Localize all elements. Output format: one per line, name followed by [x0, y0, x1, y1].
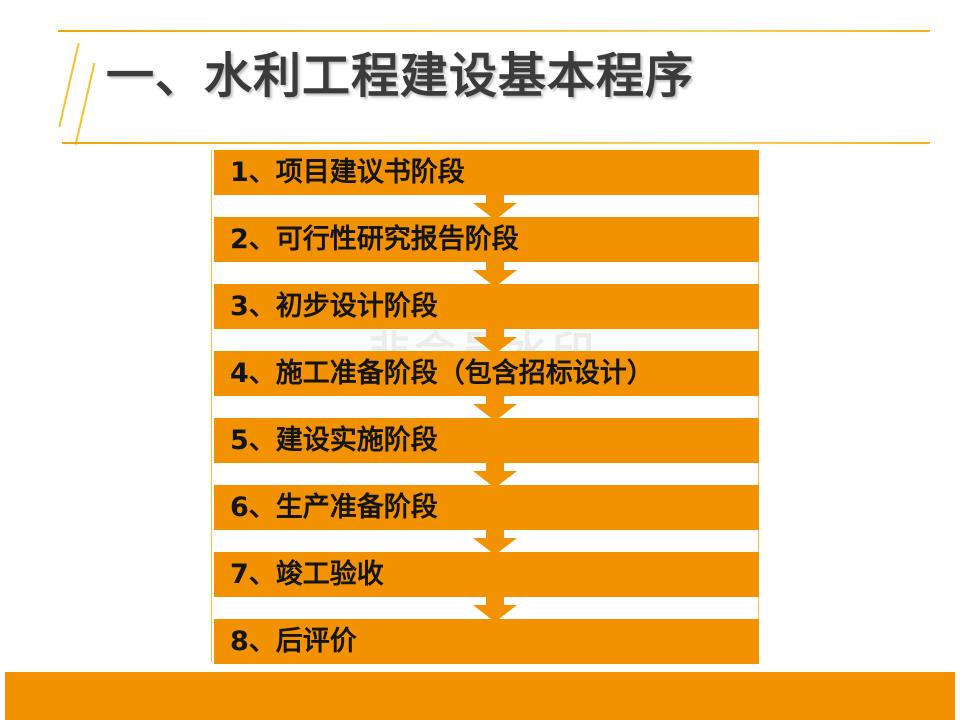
- arrow-down-icon: [473, 393, 517, 421]
- flow-step-label: 6、生产准备阶段: [230, 494, 438, 521]
- flow-step-8[interactable]: 8、后评价: [214, 619, 759, 664]
- arrow-down-icon: [473, 326, 517, 354]
- flow-step-label: 1、项目建议书阶段: [230, 159, 465, 186]
- decor-slash-icon-1: [58, 43, 79, 127]
- arrow-down-icon: [473, 259, 517, 287]
- flow-step-label: 3、初步设计阶段: [230, 293, 438, 320]
- flow-step-7[interactable]: 7、竣工验收: [214, 552, 759, 597]
- flow-guide-left: [211, 150, 212, 662]
- flow-step-5[interactable]: 5、建设实施阶段: [214, 418, 759, 463]
- flow-step-4[interactable]: 4、施工准备阶段（包含招标设计）: [214, 351, 759, 396]
- header-rule-bottom: [62, 142, 930, 144]
- process-flow-list: 1、项目建议书阶段2、可行性研究报告阶段3、初步设计阶段4、施工准备阶段（包含招…: [211, 150, 759, 662]
- page-title: 一、水利工程建设基本程序: [106, 53, 694, 101]
- slide-canvas: 一、水利工程建设基本程序 非会员水印 1、项目建议书阶段2、可行性研究报告阶段3…: [0, 0, 960, 720]
- header-rule-top: [58, 30, 930, 32]
- flow-step-6[interactable]: 6、生产准备阶段: [214, 485, 759, 530]
- flow-step-label: 2、可行性研究报告阶段: [230, 226, 519, 253]
- flow-step-label: 7、竣工验收: [230, 561, 384, 588]
- arrow-down-icon: [473, 460, 517, 488]
- arrow-down-icon: [473, 192, 517, 220]
- flow-step-2[interactable]: 2、可行性研究报告阶段: [214, 217, 759, 262]
- arrow-down-icon: [473, 527, 517, 555]
- flow-step-label: 8、后评价: [230, 628, 357, 655]
- arrow-down-icon: [473, 594, 517, 622]
- flow-step-1[interactable]: 1、项目建议书阶段: [214, 150, 759, 195]
- flow-step-3[interactable]: 3、初步设计阶段: [214, 284, 759, 329]
- flow-step-label: 5、建设实施阶段: [230, 427, 438, 454]
- flow-step-label: 4、施工准备阶段（包含招标设计）: [230, 360, 654, 387]
- decor-slash-icon-2: [75, 63, 96, 145]
- footer-bar: [5, 672, 955, 720]
